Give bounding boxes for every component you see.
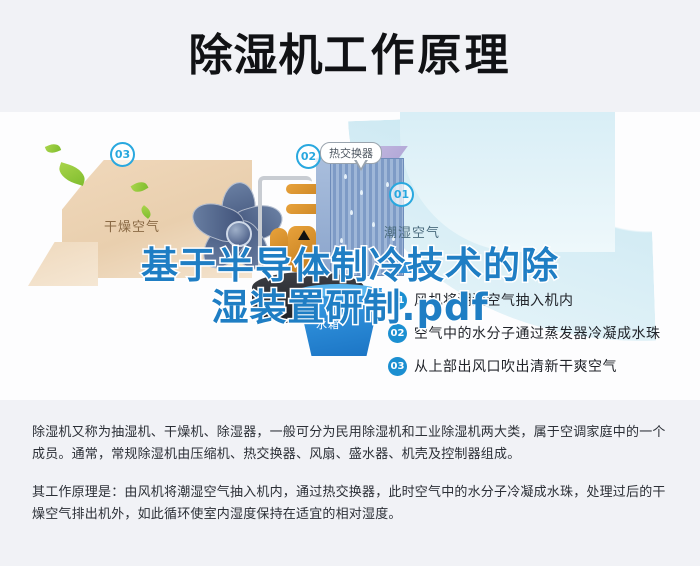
dry-air-arrow-tail-graphic — [28, 242, 98, 286]
water-tank-rim-graphic — [296, 284, 382, 300]
copper-coil — [270, 228, 288, 270]
description-paragraph-2: 其工作原理是：由风机将潮湿空气抽入机内，通过热交换器，此时空气中的水分子冷凝成水… — [32, 482, 672, 526]
water-droplet-icon — [364, 254, 367, 259]
page-title-part2: 工作原理 — [324, 30, 512, 81]
step-text: 从上部出风口吹出清新干爽空气 — [414, 356, 617, 376]
step-text: 空气中的水分子通过蒸发器冷凝成水珠 — [414, 323, 661, 343]
water-droplet-icon — [344, 174, 347, 179]
badge-02: 02 — [296, 144, 321, 169]
step-number: 03 — [388, 357, 407, 376]
step-number: 01 — [388, 291, 407, 310]
fan-hub — [226, 221, 252, 247]
diagram-stage: 水箱 03 02 01 干燥空气 潮湿空气 热交换器 01 风机将潮湿空气抽入机… — [0, 112, 700, 400]
step-list: 01 风机将潮湿空气抽入机内 02 空气中的水分子通过蒸发器冷凝成水珠 03 从… — [388, 290, 688, 389]
water-droplet-icon — [360, 190, 363, 195]
heat-exchanger-callout: 热交换器 — [320, 142, 382, 164]
water-droplet-icon — [350, 210, 353, 215]
air-intake-arrow-icon — [398, 262, 432, 273]
step-item: 02 空气中的水分子通过蒸发器冷凝成水珠 — [388, 323, 688, 343]
water-tank-label: 水箱 — [316, 316, 340, 332]
humid-air-label: 潮湿空气 — [384, 222, 440, 241]
description-block: 除湿机又称为抽湿机、干燥机、除湿器，一般可分为民用除湿机和工业除湿机两大类，属于… — [0, 400, 700, 566]
badge-03: 03 — [110, 142, 135, 167]
flow-arrow-up-icon — [298, 230, 310, 240]
page-title-part1: 除湿机 — [189, 30, 324, 81]
step-number: 02 — [388, 324, 407, 343]
description-paragraph-1: 除湿机又称为抽湿机、干燥机、除湿器，一般可分为民用除湿机和工业除湿机两大类，属于… — [32, 422, 672, 466]
badge-01: 01 — [389, 182, 414, 207]
page-title: 除湿机工作原理 — [0, 30, 700, 82]
dry-air-label: 干燥空气 — [104, 216, 160, 235]
water-droplet-icon — [386, 182, 389, 187]
water-droplet-icon — [372, 222, 375, 227]
step-item: 01 风机将潮湿空气抽入机内 — [388, 290, 688, 310]
infographic-card: 除湿机工作原理 — [0, 0, 700, 400]
title-band: 除湿机工作原理 — [0, 0, 700, 112]
leaf-icon — [45, 142, 61, 156]
water-droplet-icon — [340, 238, 343, 243]
step-item: 03 从上部出风口吹出清新干爽空气 — [388, 356, 688, 376]
step-text: 风机将潮湿空气抽入机内 — [414, 290, 574, 310]
leaf-icon — [56, 162, 88, 186]
callout-pointer-icon — [354, 160, 368, 171]
